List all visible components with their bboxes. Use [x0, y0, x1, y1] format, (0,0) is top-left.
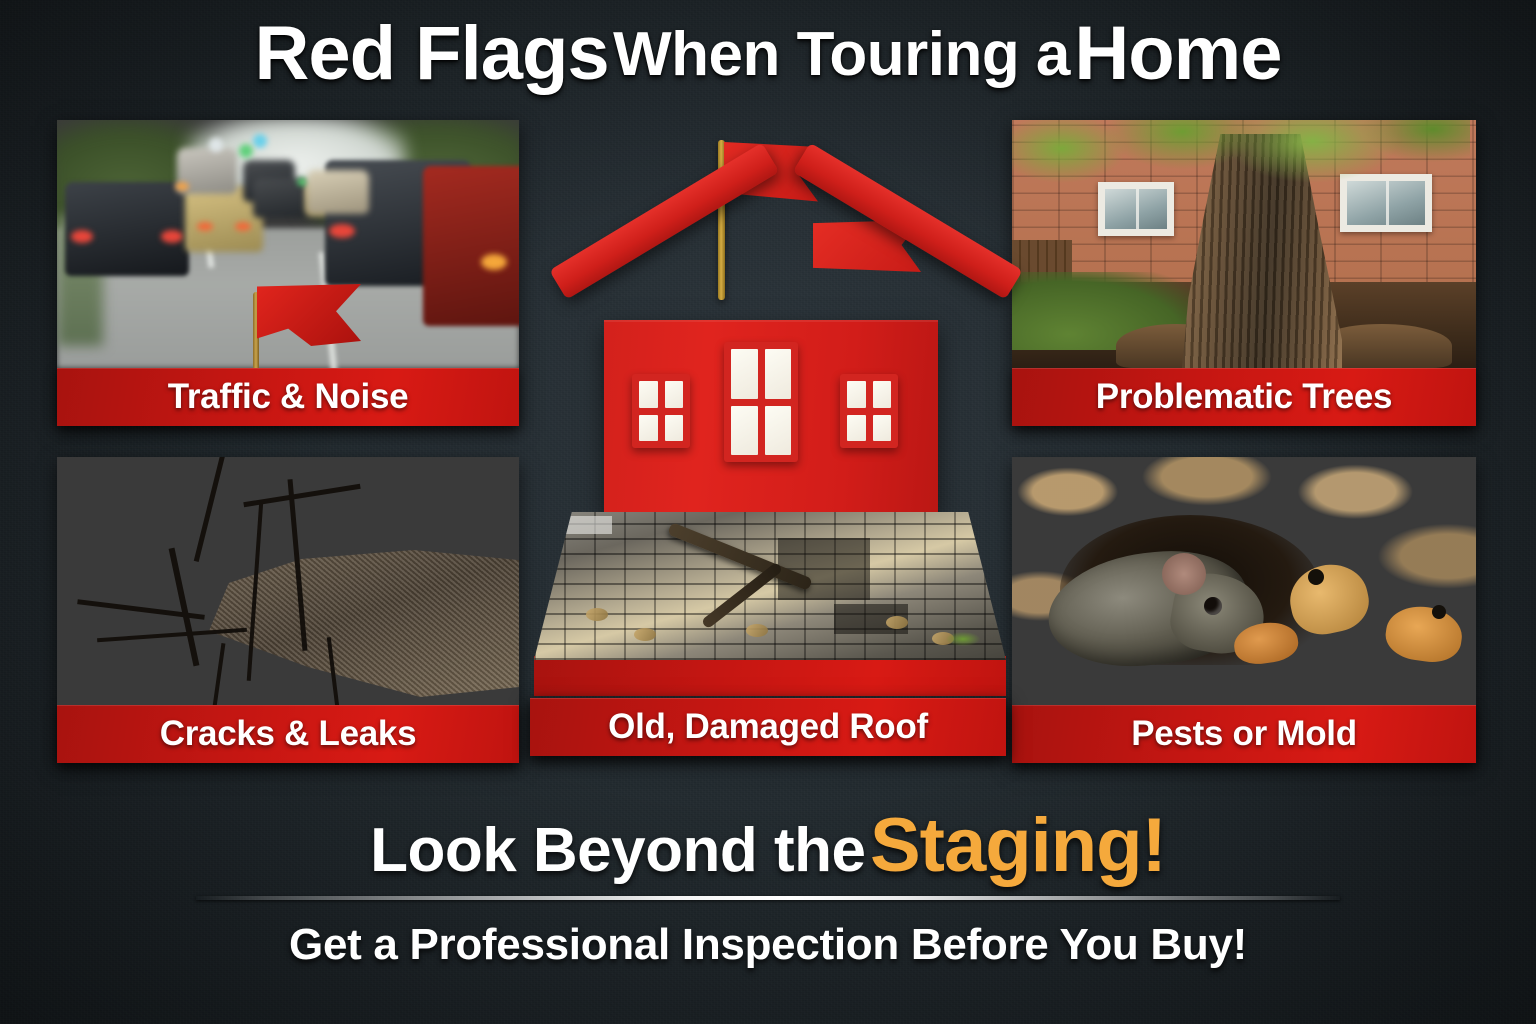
page-title-emphasis-1: Red Flags	[254, 11, 608, 96]
caption-label-traffic: Traffic & Noise	[168, 377, 409, 417]
caption-bar-pests: Pests or Mold	[1012, 705, 1476, 763]
call-to-action-text: Get a Professional Inspection Before You…	[0, 920, 1536, 970]
page-title-emphasis-2: Home	[1074, 11, 1281, 96]
photo-roof-moss	[946, 632, 980, 646]
caption-bar-traffic: Traffic & Noise	[57, 368, 519, 426]
house-window-center	[724, 342, 798, 462]
card-old-damaged-roof[interactable]: Old, Damaged Roof	[530, 698, 1006, 756]
photo-car-left-1	[65, 182, 189, 276]
photo-tree-canopy	[1012, 120, 1470, 230]
horizontal-divider	[196, 896, 1340, 900]
center-house-illustration	[528, 120, 1012, 770]
caption-bar-cracks: Cracks & Leaks	[57, 705, 519, 763]
caption-bar-trees: Problematic Trees	[1012, 368, 1476, 426]
card-cracks-and-leaks[interactable]: Cracks & Leaks	[57, 457, 519, 763]
page-title-middle: When Touring a	[613, 20, 1070, 89]
page-title: Red Flags When Touring a Home	[0, 16, 1536, 92]
photo-problematic-trees	[1012, 120, 1476, 368]
photo-pests-or-mold	[1012, 457, 1476, 705]
photo-traffic-and-noise	[57, 120, 519, 368]
tagline: Look Beyond the Staging!	[0, 808, 1536, 884]
house-roof-right	[793, 143, 1023, 300]
caption-label-trees: Problematic Trees	[1096, 377, 1392, 417]
photo-car-right-2	[423, 166, 519, 326]
photo-fallen-branch-secondary	[701, 562, 783, 630]
photo-rodent-ear	[1162, 553, 1206, 595]
house-roof-left	[549, 143, 779, 300]
card-pests-or-mold[interactable]: Pests or Mold	[1012, 457, 1476, 763]
photo-rodent-eye	[1204, 597, 1222, 615]
photo-damaged-roof	[534, 512, 1006, 660]
card-problematic-trees[interactable]: Problematic Trees	[1012, 120, 1476, 426]
roof-photo-base-bar	[534, 656, 1006, 696]
house-window-left	[632, 374, 690, 448]
caption-label-pests: Pests or Mold	[1131, 714, 1357, 754]
caption-label-cracks: Cracks & Leaks	[160, 714, 417, 754]
tagline-white-text: Look Beyond the	[370, 816, 865, 885]
caption-bar-roof: Old, Damaged Roof	[530, 698, 1006, 756]
tagline-gold-text: Staging!	[870, 803, 1166, 888]
house-window-right	[840, 374, 898, 448]
caption-label-roof: Old, Damaged Roof	[608, 707, 928, 747]
photo-cracks-and-leaks	[57, 457, 519, 705]
card-traffic-and-noise[interactable]: Traffic & Noise	[57, 120, 519, 426]
